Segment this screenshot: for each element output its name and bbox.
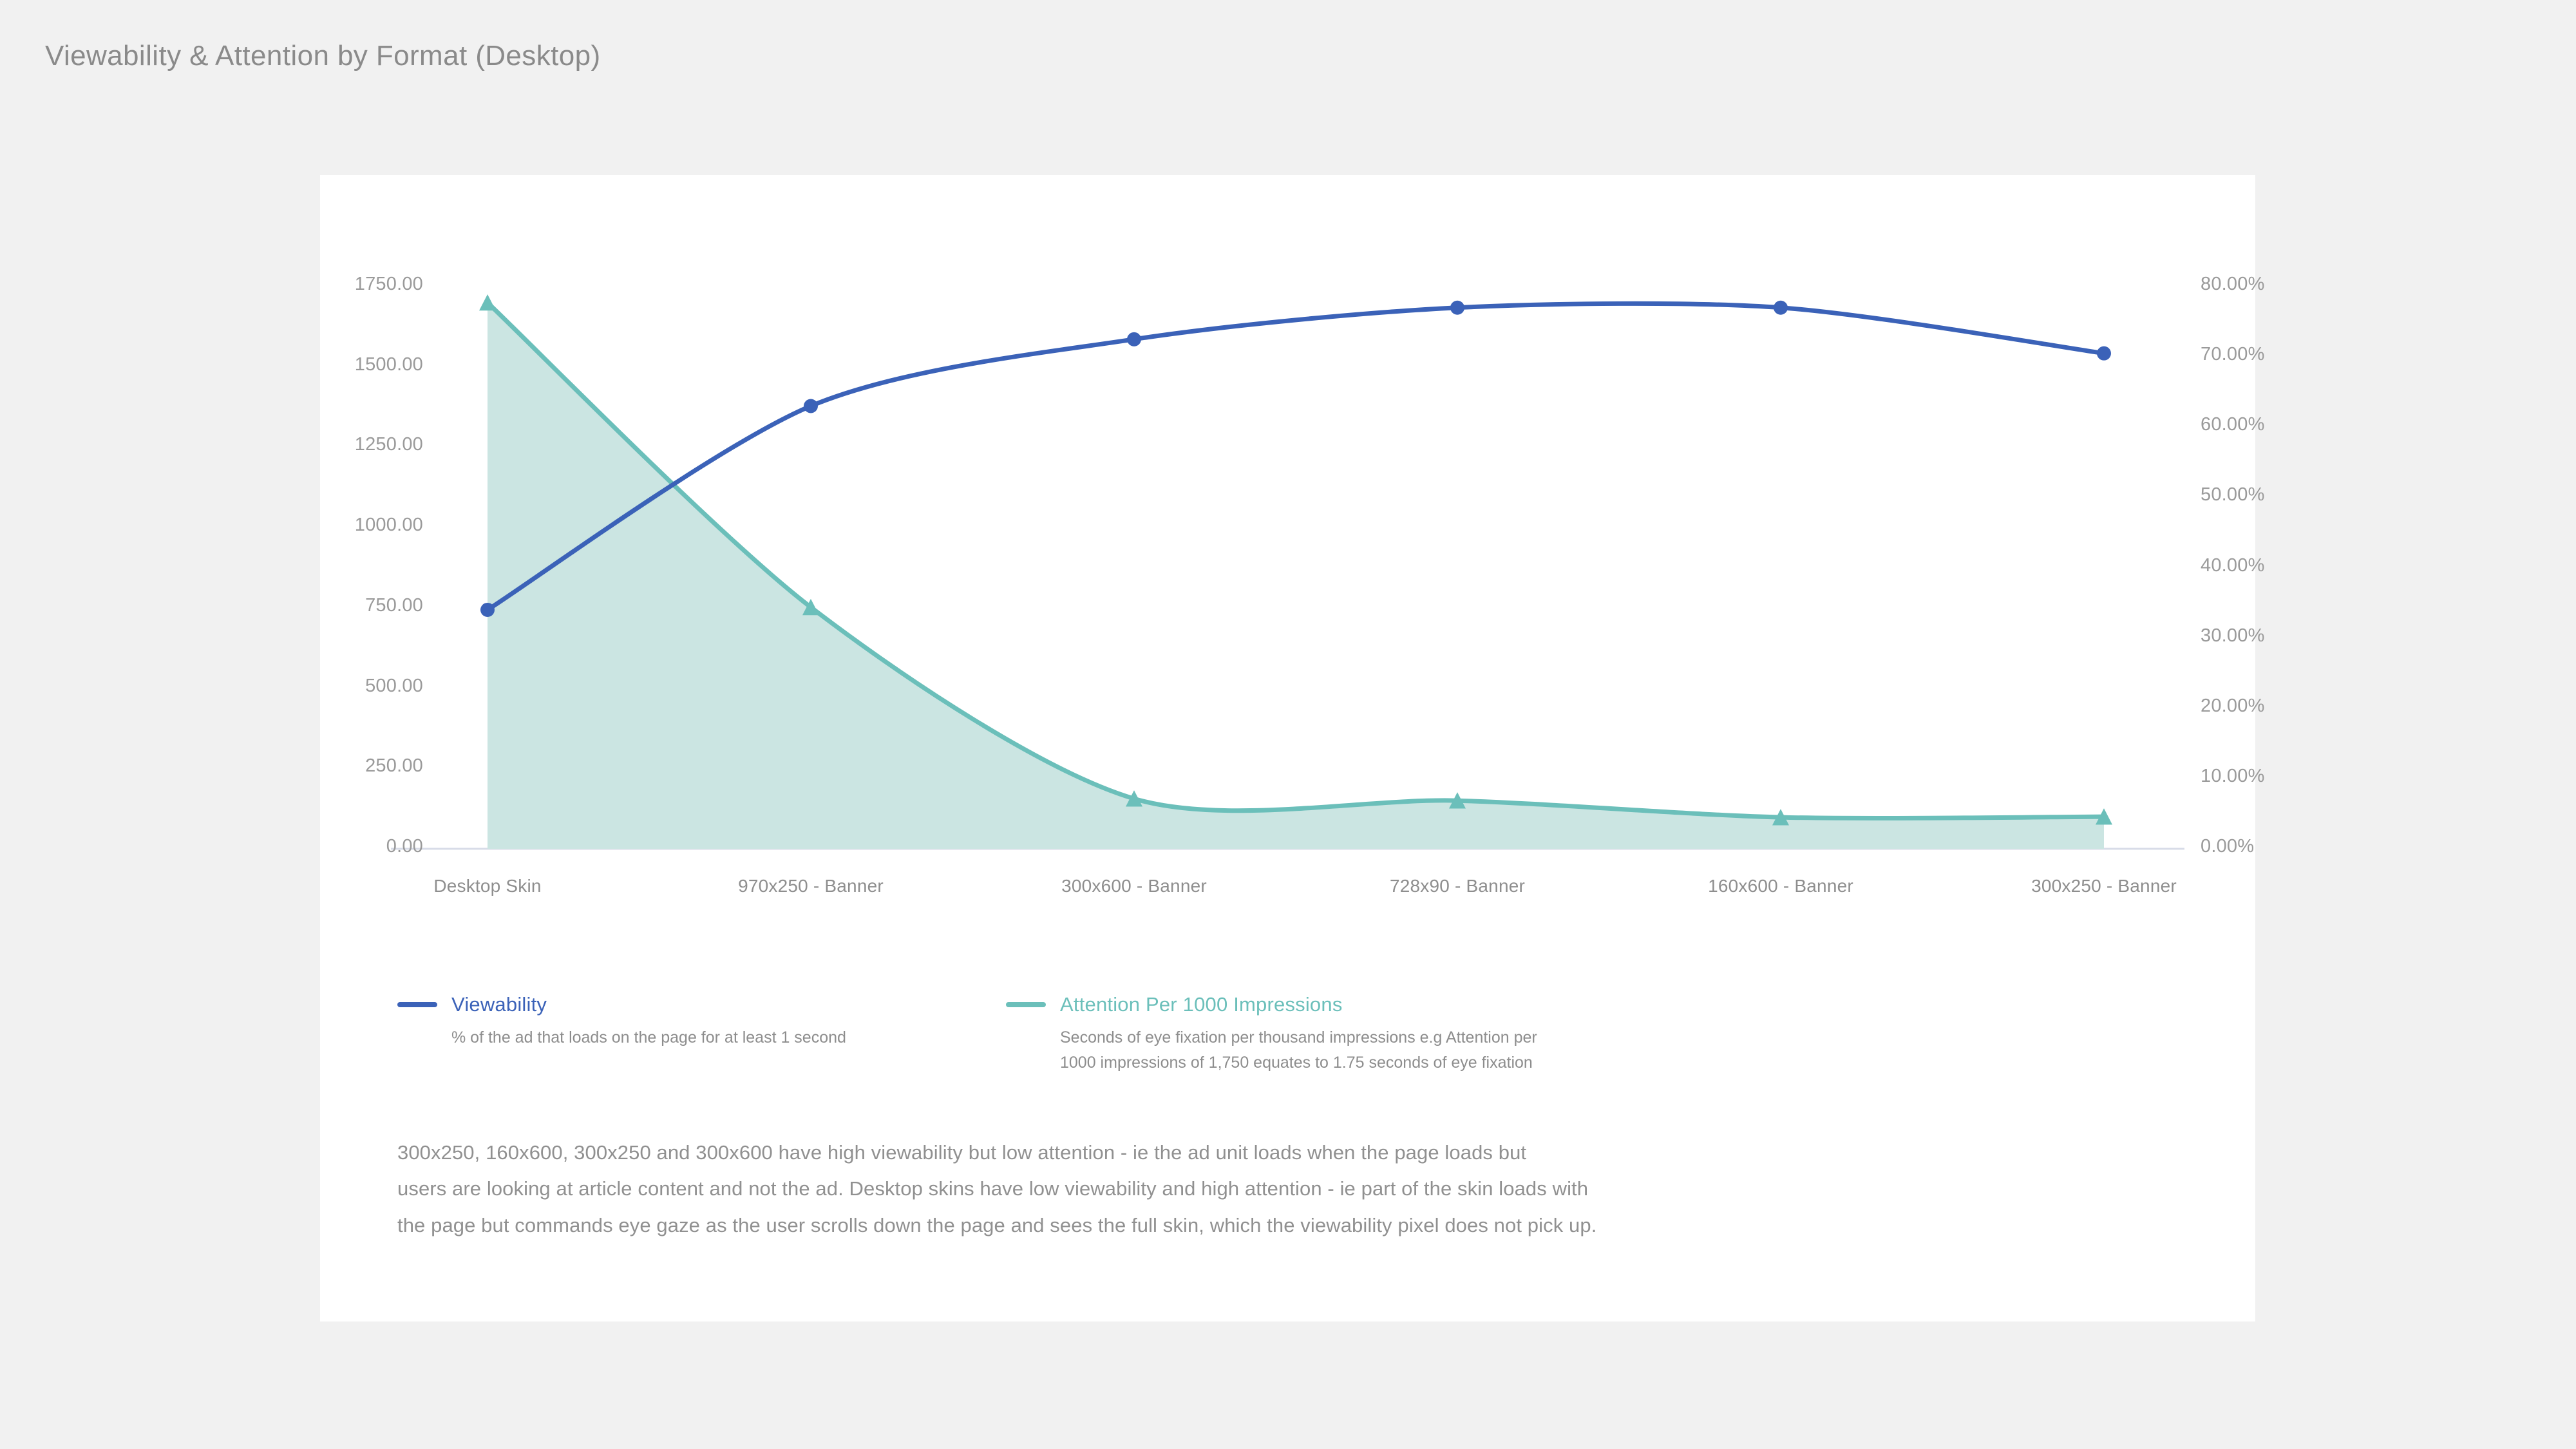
right-axis-tick-label: 0.00%	[2201, 836, 2254, 857]
right-axis-tick-label: 40.00%	[2201, 555, 2265, 576]
chart-legend: Viewability % of the ad that loads on th…	[320, 993, 2255, 1148]
category-label: 300x250 - Banner	[2031, 876, 2177, 896]
right-axis-tick-label: 80.00%	[2201, 274, 2265, 295]
right-axis-tick-label: 50.00%	[2201, 484, 2265, 506]
viewability-point[interactable]	[1774, 301, 1788, 315]
category-label: 728x90 - Banner	[1390, 876, 1525, 896]
left-axis-tick-label: 1750.00	[256, 274, 423, 295]
attention-point[interactable]	[479, 294, 496, 310]
legend-swatch-viewability	[397, 1002, 437, 1007]
chart-svg	[320, 175, 2255, 858]
category-label: 970x250 - Banner	[738, 876, 884, 896]
chart-card: 0.00250.00500.00750.001000.001250.001500…	[320, 175, 2255, 1321]
legend-description-attention: Seconds of eye fixation per thousand imp…	[1060, 1025, 1537, 1075]
left-axis-tick-label: 250.00	[256, 755, 423, 777]
attention-area	[488, 303, 2104, 849]
chart-note: 300x250, 160x600, 300x250 and 300x600 ha…	[397, 1135, 2149, 1244]
page-title: Viewability & Attention by Format (Deskt…	[45, 40, 601, 72]
note-line-3: the page but commands eye gaze as the us…	[397, 1207, 2149, 1244]
legend-label-viewability: Viewability	[451, 993, 547, 1016]
legend-label-attention: Attention Per 1000 Impressions	[1060, 993, 1343, 1016]
chart-plot-area: 0.00250.00500.00750.001000.001250.001500…	[320, 175, 2255, 858]
left-axis-tick-label: 1500.00	[256, 354, 423, 375]
right-axis-tick-label: 30.00%	[2201, 625, 2265, 647]
note-line-2: users are looking at article content and…	[397, 1171, 2149, 1207]
legend-item-viewability[interactable]: Viewability % of the ad that loads on th…	[397, 993, 846, 1050]
right-axis-tick-label: 20.00%	[2201, 696, 2265, 717]
category-label: 160x600 - Banner	[1708, 876, 1853, 896]
left-axis-tick-label: 1250.00	[256, 434, 423, 455]
category-label: Desktop Skin	[433, 876, 541, 896]
left-axis-tick-label: 500.00	[256, 676, 423, 697]
note-line-1: 300x250, 160x600, 300x250 and 300x600 ha…	[397, 1135, 2149, 1171]
right-axis-tick-label: 10.00%	[2201, 766, 2265, 787]
right-axis-tick-label: 60.00%	[2201, 414, 2265, 435]
right-axis-tick-label: 70.00%	[2201, 344, 2265, 365]
legend-item-attention[interactable]: Attention Per 1000 Impressions Seconds o…	[1006, 993, 1537, 1075]
viewability-point[interactable]	[480, 603, 495, 617]
viewability-point[interactable]	[2097, 346, 2111, 361]
viewability-point[interactable]	[1450, 301, 1464, 315]
viewability-point[interactable]	[1127, 332, 1141, 346]
left-axis-tick-label: 750.00	[256, 595, 423, 616]
legend-description-viewability: % of the ad that loads on the page for a…	[451, 1025, 846, 1050]
viewability-point[interactable]	[804, 399, 818, 413]
legend-swatch-attention	[1006, 1002, 1046, 1007]
category-label: 300x600 - Banner	[1061, 876, 1207, 896]
left-axis-tick-label: 0.00	[256, 836, 423, 857]
left-axis-tick-label: 1000.00	[256, 515, 423, 536]
